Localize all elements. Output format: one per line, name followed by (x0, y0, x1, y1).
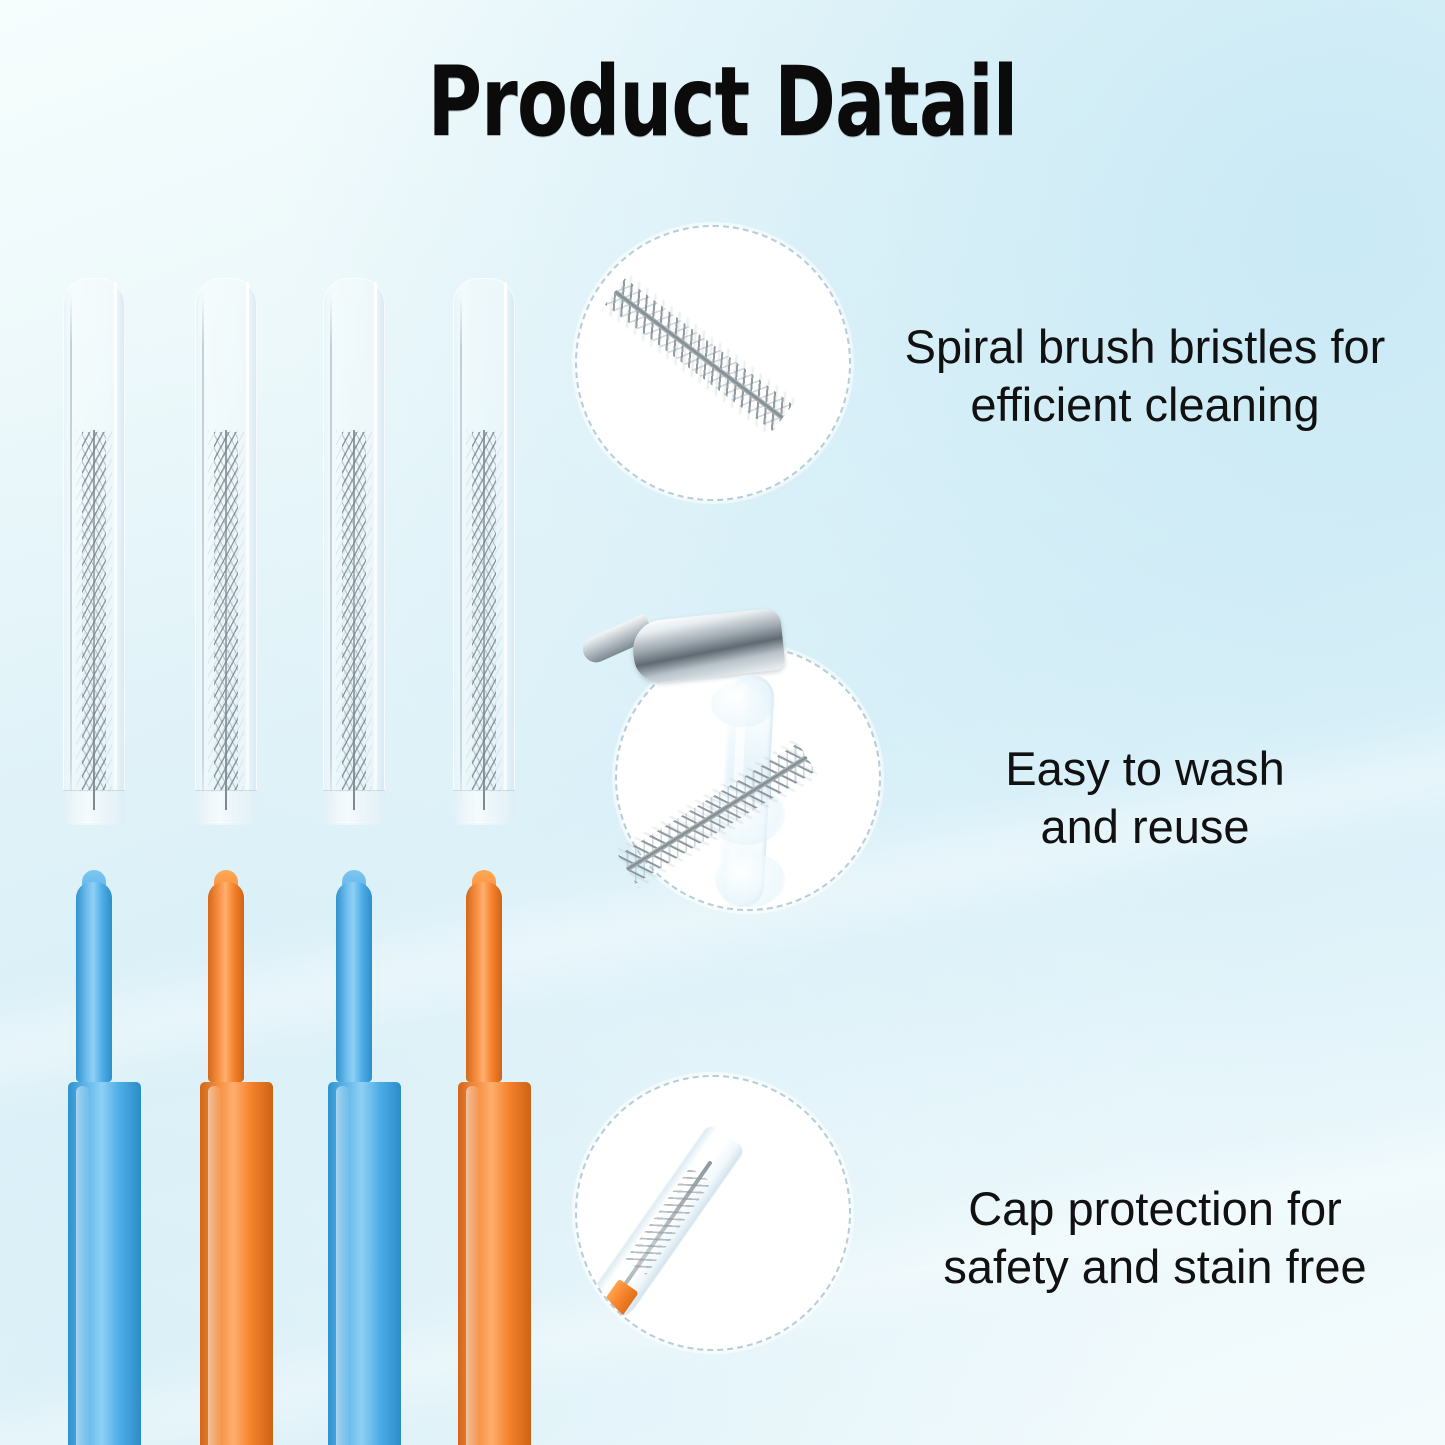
handle-gloss-3 (336, 1086, 349, 1445)
ferrule-cone-2 (208, 882, 244, 1082)
feature-label-line2: safety and stain free (905, 1238, 1405, 1296)
feature-label-easy-wash: Easy to wash and reuse (935, 740, 1355, 857)
spiral-bristles-3 (342, 432, 366, 790)
feature-label-line1: Cap protection for (905, 1180, 1405, 1238)
faucet-water-icon (615, 645, 877, 907)
product-lineup (0, 0, 600, 1445)
spiral-bristles-4 (472, 432, 496, 790)
handle-gloss-2 (208, 1086, 221, 1445)
brush-item-1 (46, 270, 142, 1330)
spiral-bristles-2 (214, 432, 238, 790)
feature-label-line1: Easy to wash (935, 740, 1355, 798)
feature-label-line1: Spiral brush bristles for (860, 318, 1430, 376)
handle-gloss-1 (76, 1086, 89, 1445)
feature-label-cap-protection: Cap protection for safety and stain free (905, 1180, 1405, 1297)
feature-label-line2: and reuse (935, 798, 1355, 856)
capped-brush-icon (577, 1077, 849, 1349)
feature-label-spiral-bristles: Spiral brush bristles for efficient clea… (860, 318, 1430, 435)
spiral-brush-icon (577, 227, 849, 499)
spiral-bristles-1 (82, 432, 106, 790)
ferrule-cone-1 (76, 882, 112, 1082)
faucet-spout (630, 607, 786, 684)
product-detail-image: Product Datail (0, 0, 1445, 1445)
brush-item-4 (436, 270, 532, 1330)
brush-item-2 (178, 270, 274, 1330)
handle-gloss-4 (466, 1086, 479, 1445)
feature-circle-cap-protection (575, 1075, 851, 1351)
ferrule-cone-4 (466, 882, 502, 1082)
ferrule-cone-3 (336, 882, 372, 1082)
brush-item-3 (306, 270, 402, 1330)
water-splash-low (715, 853, 785, 907)
water-splash-top (711, 681, 775, 727)
feature-label-line2: efficient cleaning (860, 376, 1430, 434)
feature-circle-spiral-bristles (575, 225, 851, 501)
